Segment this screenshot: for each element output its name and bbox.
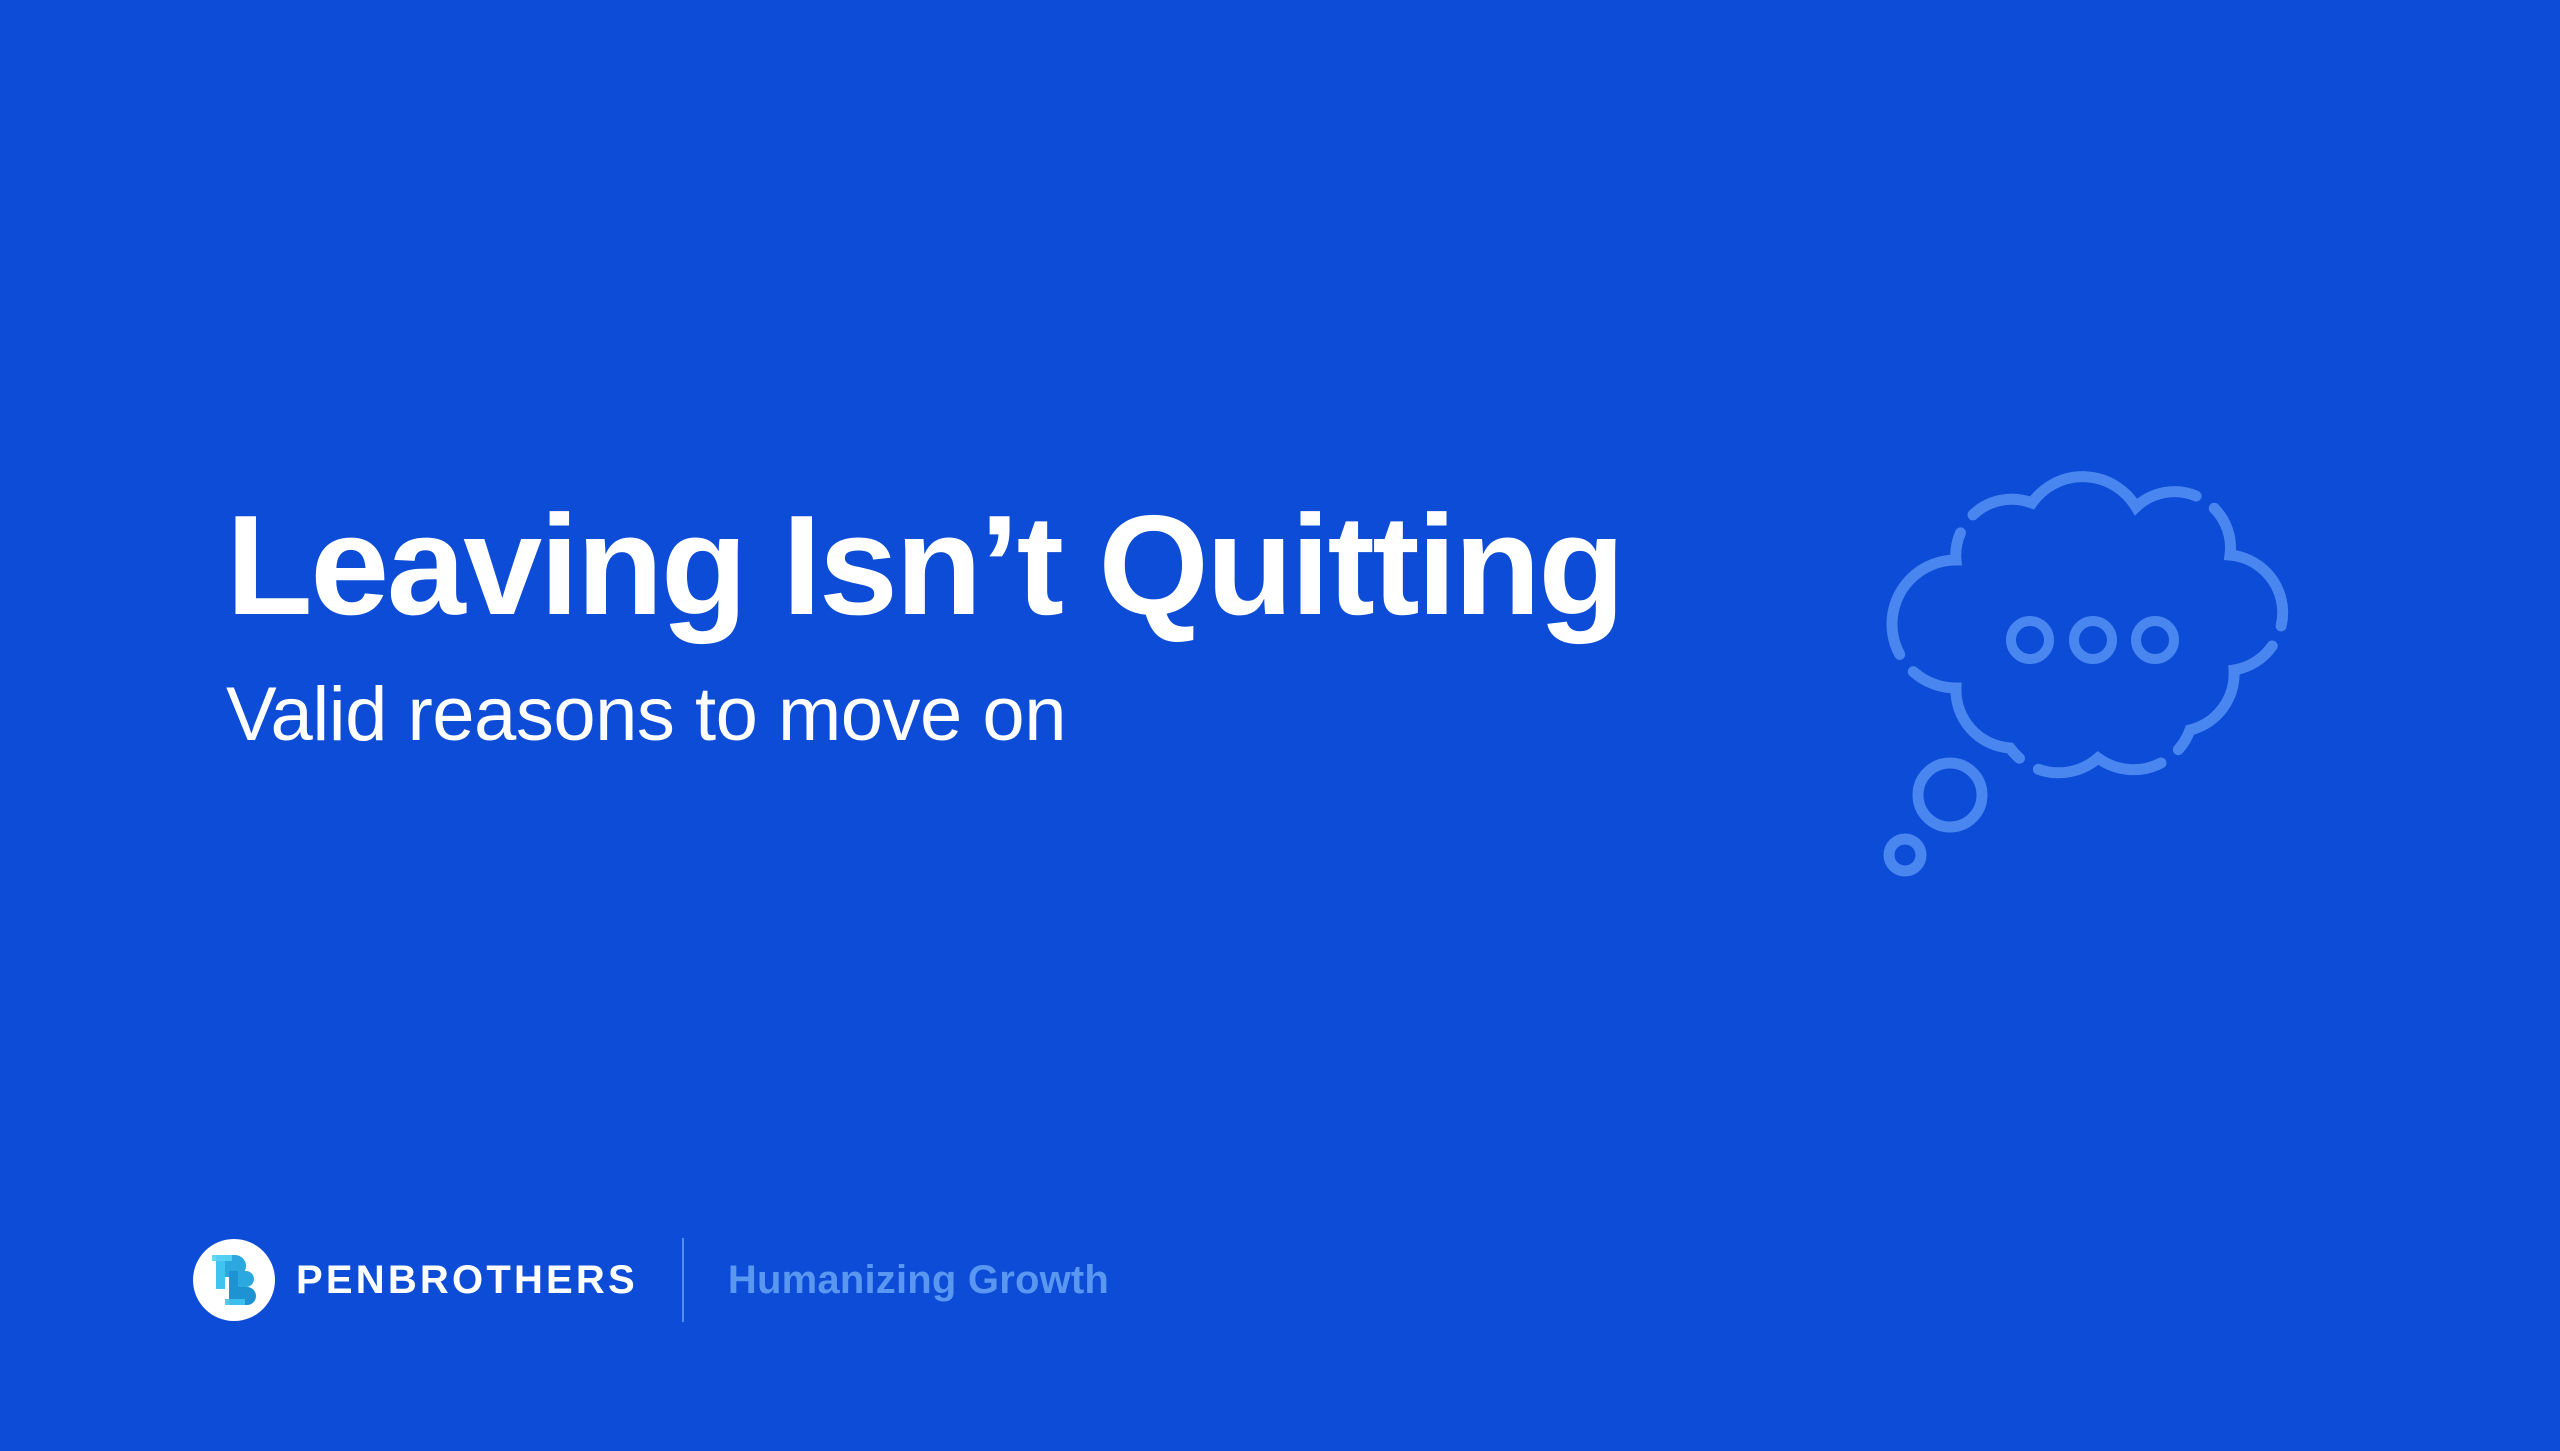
presentation-slide: Leaving Isn’t Quitting Valid reasons to …: [0, 0, 2560, 1451]
bubble-dot-2: [2074, 621, 2112, 659]
footer-brand-lockup: PENBROTHERS Humanizing Growth: [193, 1237, 1109, 1323]
brand-logo: PENBROTHERS: [193, 1239, 638, 1321]
page-subtitle: Valid reasons to move on: [226, 639, 1826, 755]
trailing-bubble-large: [1918, 763, 1982, 827]
thought-bubble-illustration: [1860, 430, 2330, 890]
page-title: Leaving Isn’t Quitting: [226, 494, 1826, 639]
bubble-dot-3: [2136, 621, 2174, 659]
trailing-bubble-small: [1889, 839, 1921, 871]
thought-bubble-icon: [1860, 430, 2330, 890]
hero-text-block: Leaving Isn’t Quitting Valid reasons to …: [226, 494, 1826, 755]
penbrothers-pb-monogram-icon: [193, 1239, 275, 1321]
footer-divider: [682, 1238, 684, 1322]
brand-tagline: Humanizing Growth: [728, 1260, 1109, 1300]
brand-wordmark: PENBROTHERS: [296, 1260, 638, 1300]
bubble-dot-1: [2011, 621, 2049, 659]
